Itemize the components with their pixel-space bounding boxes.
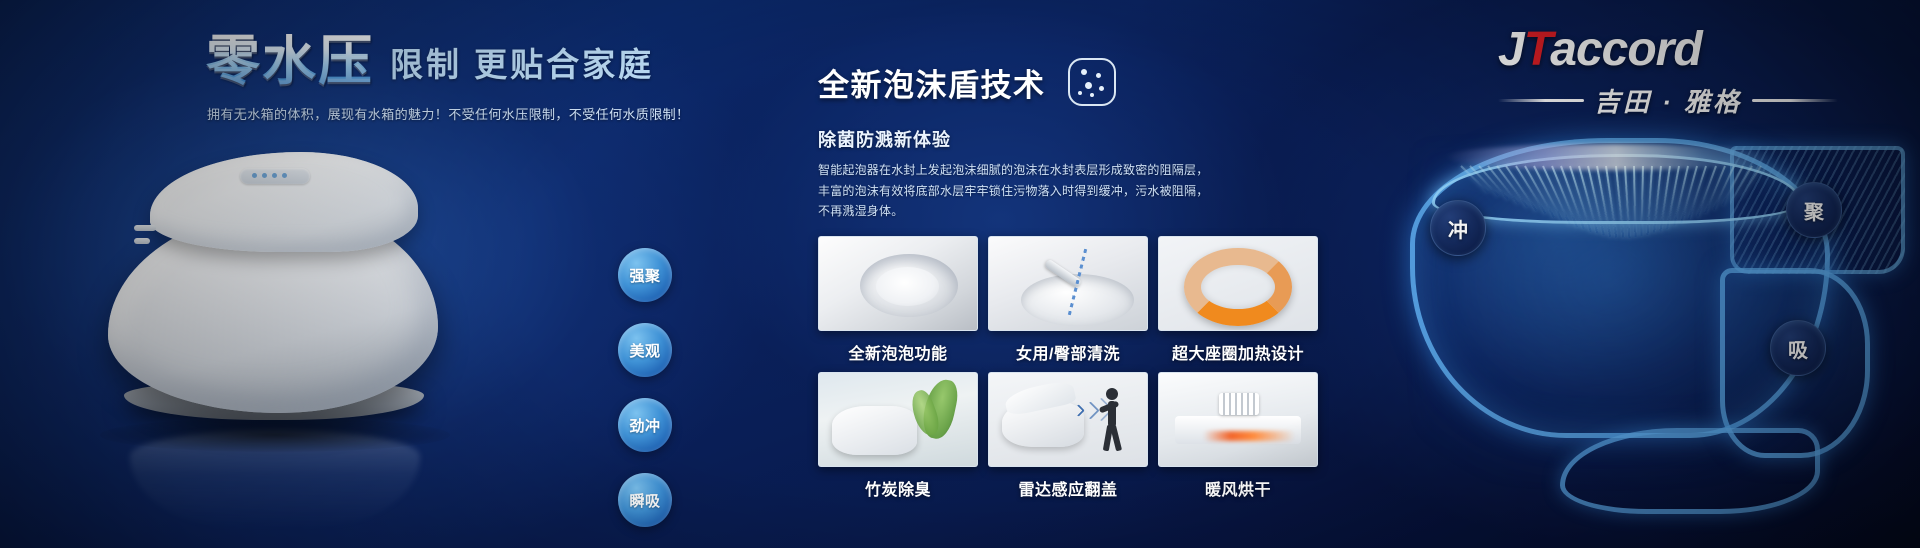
badge-shunxi[interactable]: 瞬吸 <box>618 473 672 527</box>
headline-description: 拥有无水箱的体积，展现有水箱的魅力！不受任何水压限制，不受任何水质限制！ <box>207 104 689 123</box>
feature-cell[interactable]: 全新泡泡功能 <box>818 236 978 364</box>
feature-label: 超大座圈加热设计 <box>1158 340 1318 364</box>
feature-label: 全新泡泡功能 <box>818 340 978 364</box>
logo-sub-row: 吉田 · 雅格 <box>1498 82 1838 119</box>
center-title: 全新泡沫盾技术 <box>818 60 1046 105</box>
badge-jingchong[interactable]: 劲冲 <box>618 398 672 452</box>
toilet-side-button-2 <box>134 238 150 244</box>
logo-letter-j: J <box>1498 23 1524 76</box>
bubble-shield-icon <box>1068 58 1116 106</box>
center-title-row: 全新泡沫盾技术 <box>818 58 1116 106</box>
logo-chinese-name: 吉田 · 雅格 <box>1594 82 1742 119</box>
xray-drain-pipe <box>1560 428 1820 514</box>
brand-logo[interactable]: JTaccord 吉田 · 雅格 <box>1498 26 1838 122</box>
heated-seat-ring-thumb <box>1158 236 1318 331</box>
feature-label: 竹炭除臭 <box>818 476 978 500</box>
bamboo-charcoal-thumb <box>818 372 978 467</box>
toilet-shadow <box>100 418 450 452</box>
feature-badge-list: 强聚 美观 劲冲 瞬吸 <box>618 248 672 527</box>
feature-label: 雷达感应翻盖 <box>988 476 1148 500</box>
toilet-indicator-dots <box>252 173 287 178</box>
circle-label-text: 吸 <box>1788 334 1808 363</box>
feature-cell[interactable]: 竹炭除臭 <box>818 372 978 500</box>
badge-label: 瞬吸 <box>629 490 660 511</box>
badge-meiguan[interactable]: 美观 <box>618 323 672 377</box>
feature-grid: 全新泡泡功能 女用/臀部清洗 超大座圈加热设计 竹炭除臭 <box>818 236 1318 500</box>
feature-label: 暖风烘干 <box>1158 476 1318 500</box>
logo-wordmark: JTaccord <box>1498 26 1838 74</box>
center-panel: 全新泡沫盾技术 除菌防溅新体验 智能起泡器在水封上发起泡沫细腻的泡沫在水封表层形… <box>818 0 1338 548</box>
toilet-xray-cutaway <box>1390 128 1920 538</box>
smart-toilet-illustration <box>90 130 470 430</box>
logo-rule-right <box>1752 99 1838 102</box>
logo-rule-left <box>1498 99 1584 102</box>
bowl-foam-thumb <box>818 236 978 331</box>
center-subtitle: 除菌防溅新体验 <box>818 126 951 152</box>
circle-label-chong[interactable]: 冲 <box>1430 200 1486 256</box>
toilet-lid <box>150 152 418 252</box>
feature-cell[interactable]: 超大座圈加热设计 <box>1158 236 1318 364</box>
badge-qiangju[interactable]: 强聚 <box>618 248 672 302</box>
logo-letter-t: T <box>1524 23 1551 76</box>
headline-main: 零水压 <box>206 34 374 88</box>
badge-label: 强聚 <box>629 265 660 286</box>
product-banner: 零水压 限制 更贴合家庭 拥有无水箱的体积，展现有水箱的魅力！不受任何水压限制，… <box>0 0 1920 548</box>
right-panel: JTaccord 吉田 · 雅格 <box>1380 0 1920 548</box>
headline-row: 零水压 限制 更贴合家庭 <box>206 34 654 88</box>
circle-label-ju[interactable]: 聚 <box>1786 182 1842 238</box>
feature-cell[interactable]: 女用/臀部清洗 <box>988 236 1148 364</box>
badge-label: 美观 <box>629 340 660 361</box>
xray-water-jets <box>1452 166 1772 286</box>
circle-label-text: 冲 <box>1448 214 1468 243</box>
xray-rim-sheen <box>1445 144 1775 170</box>
circle-label-xi[interactable]: 吸 <box>1770 320 1826 376</box>
wand-spray-thumb <box>988 236 1148 331</box>
radar-sensor-lid-thumb <box>988 372 1148 467</box>
headline-sub: 限制 更贴合家庭 <box>390 46 654 88</box>
center-body-text: 智能起泡器在水封上发起泡沫细腻的泡沫在水封表层形成致密的阻隔层，丰富的泡沫有效将… <box>818 160 1218 222</box>
badge-label: 劲冲 <box>629 415 660 436</box>
warm-air-dryer-thumb <box>1158 372 1318 467</box>
circle-label-text: 聚 <box>1804 196 1824 225</box>
logo-accord: accord <box>1550 23 1701 76</box>
feature-label: 女用/臀部清洗 <box>988 340 1148 364</box>
left-panel: 零水压 限制 更贴合家庭 拥有无水箱的体积，展现有水箱的魅力！不受任何水压限制，… <box>0 0 700 548</box>
feature-cell[interactable]: 暖风烘干 <box>1158 372 1318 500</box>
toilet-side-button-1 <box>134 225 156 231</box>
feature-cell[interactable]: 雷达感应翻盖 <box>988 372 1148 500</box>
